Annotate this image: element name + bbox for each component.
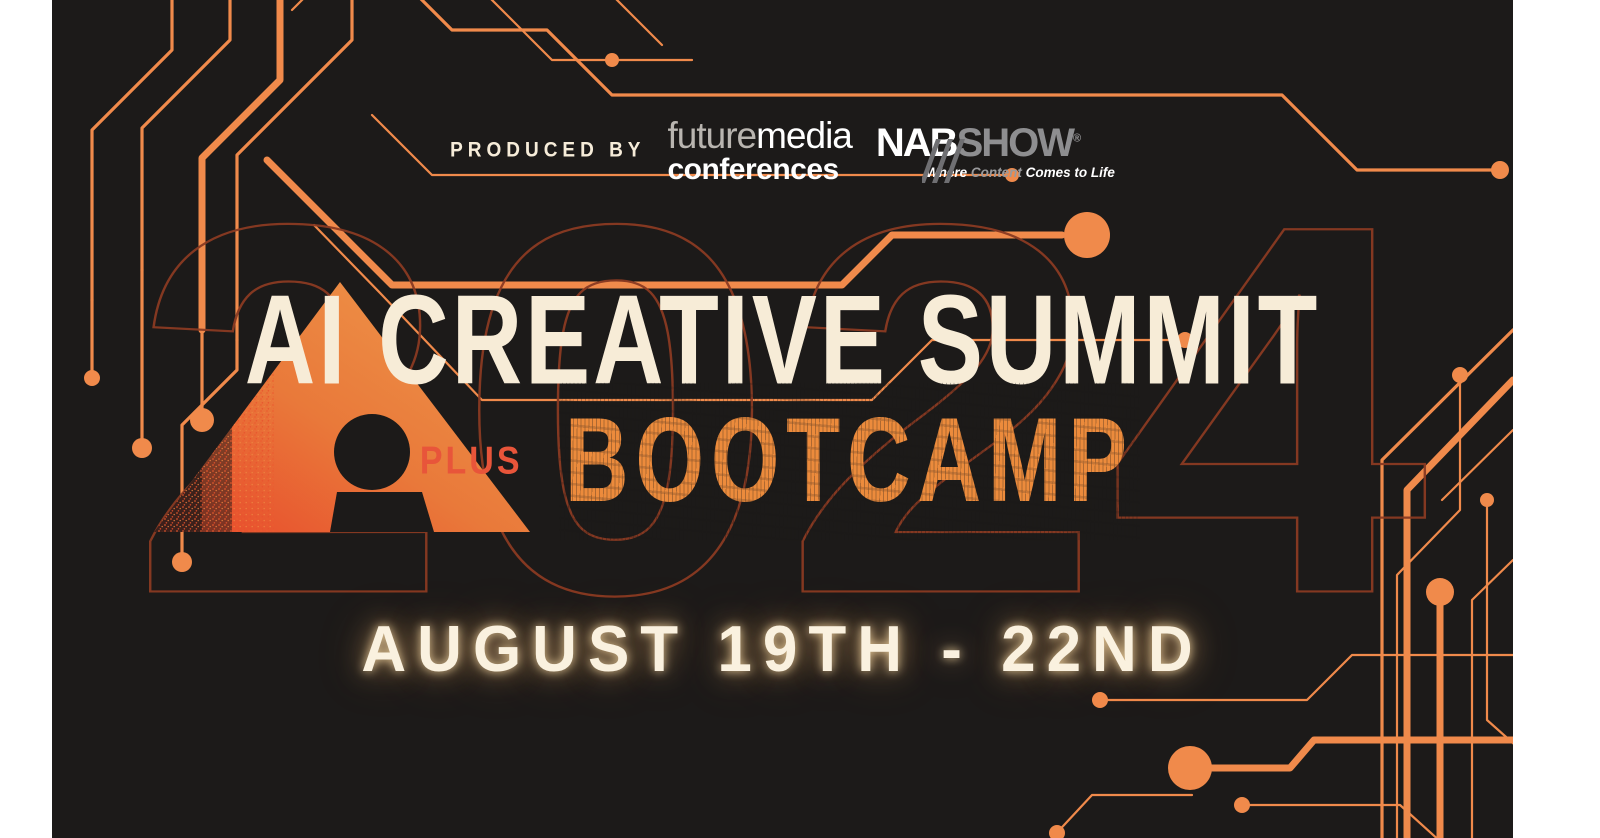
bootcamp-row: PLUS BOOTCAMP (52, 406, 1513, 516)
nab-show-wordmark: NABSHOW® (876, 123, 1081, 163)
futuremedia-future: future (667, 115, 756, 156)
tagline-comes-to-life: Comes to Life (1026, 165, 1115, 180)
produced-by-label: PRODUCED BY (450, 139, 645, 164)
futuremedia-conferences: conferences (667, 155, 838, 185)
nab-show-logo: NABSHOW® Where Content Comes to Life (874, 123, 1115, 180)
futuremedia-media: media (756, 115, 852, 156)
nab-slash-icon (922, 139, 968, 183)
event-dates: AUGUST 19TH - 22ND (52, 612, 1513, 687)
poster-canvas: .t{stroke:#f08a4b;fill:none;stroke-linec… (0, 0, 1600, 838)
poster-banner: .t{stroke:#f08a4b;fill:none;stroke-linec… (52, 0, 1513, 838)
registered-trademark-icon: ® (1073, 132, 1081, 144)
show-text: SHOW (957, 121, 1073, 165)
futuremedia-conferences-logo: futuremedia conferences (667, 117, 851, 185)
producer-row: PRODUCED BY futuremedia conferences NABS… (52, 112, 1513, 190)
futuremedia-wordmark: futuremedia (667, 117, 851, 154)
bootcamp-title: BOOTCAMP (564, 393, 1133, 530)
plus-label: PLUS (420, 439, 523, 484)
tagline-content: Content (971, 165, 1026, 180)
